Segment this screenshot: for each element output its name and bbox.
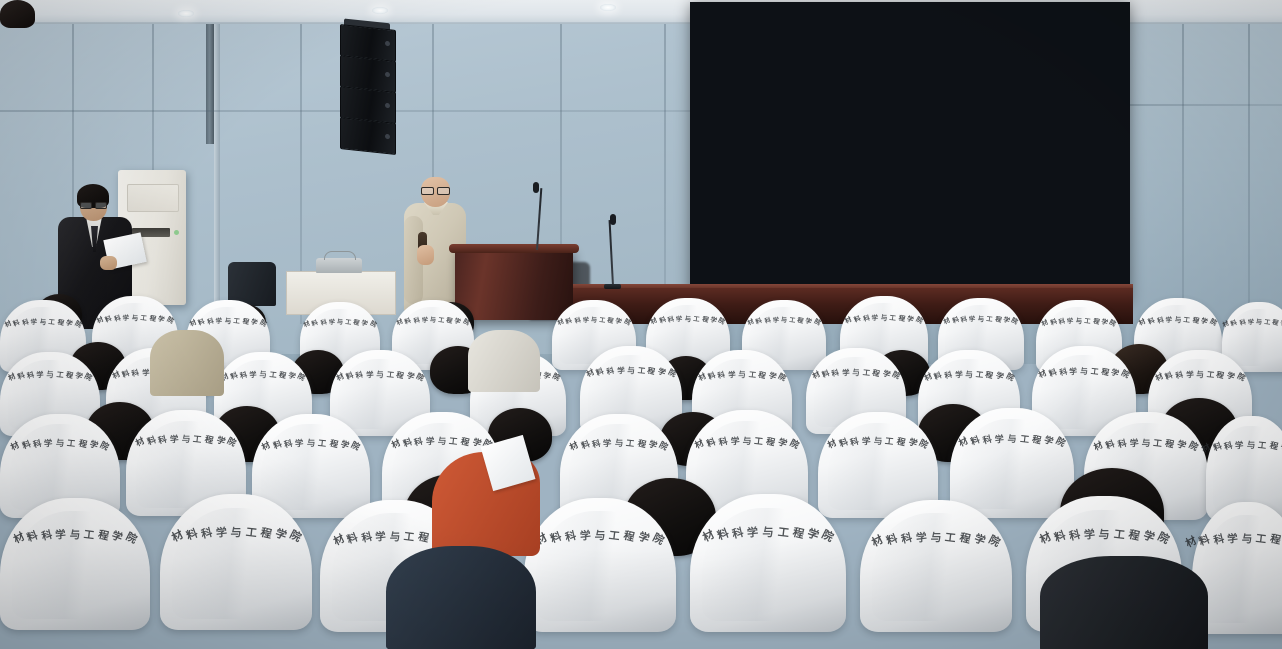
chair-cover-text: 材料科学与工程学院 <box>1032 366 1136 377</box>
attendee-tan-shirt <box>150 330 224 396</box>
chair-cover[interactable]: 材料科学与工程学院 <box>690 494 846 632</box>
lectern-top <box>449 244 579 253</box>
chair-cover[interactable]: 材料科学与工程学院 <box>160 494 312 630</box>
chair-cover-text: 材料科学与工程学院 <box>1036 316 1122 325</box>
ac-indicator-light <box>174 230 179 235</box>
chair-cover-text: 材料科学与工程学院 <box>1206 439 1282 451</box>
presenter-hair <box>0 0 35 28</box>
chair-cover-text: 材料科学与工程学院 <box>1222 317 1282 326</box>
attendee-dark-shirt <box>1040 556 1208 649</box>
chair-cover-text: 材料科学与工程学院 <box>1084 436 1208 449</box>
chair-cover-text: 材料科学与工程学院 <box>860 529 1012 545</box>
chair-cover-text: 材料科学与工程学院 <box>818 435 938 447</box>
chair-cover-fold <box>261 424 360 509</box>
downlight <box>178 10 194 17</box>
chair-cover-fold <box>1228 309 1282 366</box>
chair-cover[interactable]: 材料科学与工程学院 <box>950 408 1074 518</box>
chair-cover-text: 材料科学与工程学院 <box>1192 531 1282 546</box>
chair-cover-text: 材料科学与工程学院 <box>524 527 676 543</box>
ac-grille <box>127 184 179 212</box>
attendee-navy-shirt <box>386 546 536 649</box>
chair-cover-text: 材料科学与工程学院 <box>806 367 906 378</box>
chair-cover-text: 材料科学与工程学院 <box>0 370 100 380</box>
chair-cover-text: 材料科学与工程学院 <box>938 314 1024 323</box>
chair-cover-text: 材料科学与工程学院 <box>560 437 678 449</box>
chair-cover-text: 材料科学与工程学院 <box>646 314 730 323</box>
chair-cover-fold <box>10 424 111 509</box>
chair-cover-fold <box>536 511 664 621</box>
microphone-capsule-icon <box>533 182 539 193</box>
attendee-light-shirt <box>468 330 540 392</box>
speaker-module <box>340 117 396 155</box>
chair-cover-text: 材料科学与工程学院 <box>1134 314 1222 324</box>
lecture-hall-photo: NiMTE <box>0 0 1282 649</box>
downlight <box>372 7 388 14</box>
chair-cover-text: 材料科学与工程学院 <box>552 315 636 324</box>
chair-cover-text: 材料科学与工程学院 <box>840 312 928 322</box>
chair-cover[interactable]: 材料科学与工程学院 <box>860 500 1012 632</box>
chair-cover-text: 材料科学与工程学院 <box>0 437 120 449</box>
chair-cover[interactable]: 材料科学与工程学院 <box>0 498 150 630</box>
chair-cover-fold <box>702 508 833 621</box>
chair-cover-text: 材料科学与工程学院 <box>160 524 312 540</box>
chair-cover-text: 材料科学与工程学院 <box>950 432 1074 445</box>
chair-cover-text: 材料科学与工程学院 <box>692 369 792 380</box>
presenter-hand <box>417 245 434 265</box>
video-wall-frame: NiMTE <box>690 2 1130 302</box>
chair-cover-text: 材料科学与工程学院 <box>330 369 430 380</box>
chair-cover-fold <box>828 423 929 510</box>
chair-cover-text: 材料科学与工程学院 <box>252 437 370 449</box>
wall-seam <box>664 24 666 294</box>
chair-cover-text: 材料科学与工程学院 <box>300 317 380 326</box>
chair-cover-text: 材料科学与工程学院 <box>690 524 846 540</box>
microphone-capsule-icon <box>610 214 616 225</box>
chair-cover-fold <box>338 359 422 430</box>
chair-cover-fold <box>12 511 138 619</box>
wall-seam <box>1130 104 1282 106</box>
chair-cover-text: 材料科学与工程学院 <box>214 370 312 380</box>
chair-cover-fold <box>872 513 1000 621</box>
chair-cover-text: 材料科学与工程学院 <box>580 365 682 376</box>
chair-cover-fold <box>1201 515 1282 623</box>
presenter-glasses-icon <box>421 187 450 193</box>
line-array-speaker <box>340 24 396 175</box>
chair-cover-text: 材料科学与工程学院 <box>742 315 826 324</box>
chair-cover-text: 材料科学与工程学院 <box>126 433 246 445</box>
chair-cover-text: 材料科学与工程学院 <box>1148 369 1252 380</box>
host-glasses-icon <box>80 202 107 207</box>
chair-cover-text: 材料科学与工程学院 <box>918 369 1020 380</box>
presenter-person <box>0 0 35 28</box>
chair-cover[interactable]: 材料科学与工程学院 <box>524 498 676 632</box>
chair-cover-fold <box>1213 426 1282 511</box>
chair-cover-fold <box>172 508 300 620</box>
chair-cover-text: 材料科学与工程学院 <box>92 312 178 322</box>
chair-cover-text: 材料科学与工程学院 <box>392 315 474 324</box>
downlight <box>600 4 616 11</box>
chair-cover-text: 材料科学与工程学院 <box>0 316 86 326</box>
chair-cover-text: 材料科学与工程学院 <box>0 527 150 542</box>
chair-cover-text: 材料科学与工程学院 <box>686 434 808 447</box>
chair-cover-text: 材料科学与工程学院 <box>1026 526 1182 542</box>
host-hand <box>100 256 117 270</box>
chair-cover-fold <box>960 419 1064 509</box>
chair-cover-text: 材料科学与工程学院 <box>186 315 270 325</box>
